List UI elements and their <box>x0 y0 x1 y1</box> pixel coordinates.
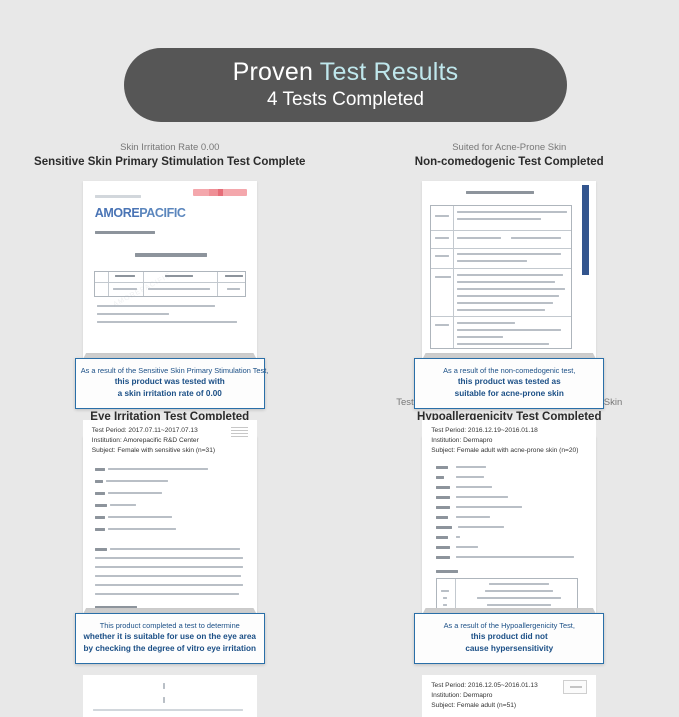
doc-line <box>436 516 448 519</box>
test-card-non-comedogenic: Suited for Acne-Prone Skin Non-comedogen… <box>340 142 679 392</box>
doc-table-col <box>217 272 218 296</box>
doc-line <box>456 516 490 519</box>
doc-line <box>457 218 541 220</box>
callout-line-1: As a result of the non-comedogenic test, <box>420 365 598 376</box>
document-meta-footer <box>83 675 257 717</box>
doc-line <box>457 288 565 290</box>
callout-line-2: this product did not <box>420 631 598 643</box>
doc-line <box>436 546 450 549</box>
doc-line <box>435 276 451 278</box>
doc-line <box>456 506 522 509</box>
doc-line <box>443 597 447 599</box>
doc-line <box>485 590 553 592</box>
document-meta-footer: Test Period: 2017.07.11~2017.07.13 Insti… <box>83 420 257 462</box>
report-document-image <box>422 181 596 362</box>
doc-line <box>135 253 207 257</box>
doc-line <box>457 211 567 213</box>
meta-institution: Institution: Dermapro <box>431 436 588 446</box>
doc-line <box>458 526 504 529</box>
doc-table <box>430 205 572 349</box>
meta-test-period: Test Period: 2017.07.11~2017.07.13 <box>92 426 249 436</box>
doc-line <box>435 215 449 217</box>
callout-line-3: cause hypersensitivity <box>420 643 598 655</box>
page-subtitle: 4 Tests Completed <box>267 90 424 111</box>
card-subtitle: Suited for Acne-Prone Skin <box>452 142 566 154</box>
callout-line-1: As a result of the Sensitive Skin Primar… <box>81 365 259 376</box>
page-header-banner: Proven Test Results 4 Tests Completed <box>124 48 567 122</box>
callout-line-3: suitable for acne-prone skin <box>420 388 598 400</box>
doc-table-col <box>108 272 109 296</box>
doc-line <box>456 546 478 549</box>
doc-line <box>457 260 527 262</box>
result-callout-box: As a result of the non-comedogenic test,… <box>414 358 604 409</box>
doc-line <box>95 468 105 471</box>
doc-line <box>106 480 168 483</box>
doc-line <box>457 237 501 239</box>
doc-line <box>95 480 103 483</box>
doc-line <box>108 492 162 495</box>
doc-table-row <box>431 230 571 231</box>
doc-line <box>108 516 172 519</box>
doc-line <box>477 597 561 599</box>
doc-line <box>163 683 165 689</box>
amorepacific-logo: AMOREPACIFIC <box>95 206 186 220</box>
callout-line-3: by checking the degree of vitro eye irri… <box>81 643 259 655</box>
doc-line <box>456 476 484 479</box>
doc-line <box>436 496 450 499</box>
meta-subject: Subject: Female adult with acne-prone sk… <box>431 446 588 456</box>
doc-line <box>456 466 486 469</box>
result-callout-box: As a result of the Sensitive Skin Primar… <box>75 358 265 409</box>
card-title: Sensitive Skin Primary Stimulation Test … <box>34 155 305 170</box>
doc-line <box>443 604 447 606</box>
test-results-grid: Skin Irritation Rate 0.00 Sensitive Skin… <box>0 142 679 647</box>
doc-table-row <box>431 268 571 269</box>
doc-line <box>457 295 559 297</box>
doc-line <box>95 528 105 531</box>
doc-line <box>436 476 444 479</box>
doc-line <box>457 253 561 255</box>
meta-institution: Institution: Amorepacific R&D Center <box>92 436 249 446</box>
doc-line <box>436 536 448 539</box>
doc-line <box>441 590 449 592</box>
doc-line <box>457 309 545 311</box>
doc-line <box>457 343 549 345</box>
document-meta-footer: Test Period: 2016.12.19~2016.01.18 Insti… <box>422 420 596 462</box>
doc-line <box>110 504 136 507</box>
meta-subject: Subject: Female adult (n=51) <box>431 701 588 711</box>
result-callout-box: This product completed a test to determi… <box>75 613 265 664</box>
doc-line <box>95 548 107 551</box>
doc-line <box>456 556 574 559</box>
doc-line <box>95 492 105 495</box>
blue-spine-bar-icon <box>582 185 589 275</box>
callout-line-1: As a result of the Hypoallergenicity Tes… <box>420 620 598 631</box>
seal-stamp-icon <box>563 680 587 694</box>
doc-line <box>95 504 107 507</box>
doc-line <box>108 468 208 471</box>
doc-table-row <box>431 316 571 317</box>
callout-line-1: This product completed a test to determi… <box>81 620 259 631</box>
document-watermark <box>117 506 234 612</box>
pink-header-bar-icon <box>193 189 247 196</box>
doc-line <box>436 556 450 559</box>
doc-line <box>435 324 449 326</box>
result-callout-box: As a result of the Hypoallergenicity Tes… <box>414 613 604 664</box>
doc-line <box>436 486 450 489</box>
doc-line <box>436 526 452 529</box>
document-photo-wrap: As a result of the non-comedogenic test,… <box>422 181 596 462</box>
doc-line <box>95 516 105 519</box>
callout-line-2: this product was tested with <box>81 376 259 388</box>
doc-line <box>436 466 448 469</box>
doc-line <box>436 506 450 509</box>
report-document-image <box>422 436 596 617</box>
document-photo-wrap: AMOREPACIFIC AMOR <box>83 181 257 462</box>
doc-table-col <box>453 206 454 348</box>
doc-table-row <box>431 248 571 249</box>
doc-line <box>457 274 563 276</box>
doc-line <box>227 288 240 291</box>
report-document-image <box>83 436 257 617</box>
card-title: Non-comedogenic Test Completed <box>415 155 604 170</box>
doc-line <box>457 336 503 338</box>
doc-line <box>511 237 561 239</box>
doc-line <box>93 709 243 711</box>
doc-line <box>487 604 551 606</box>
doc-line <box>457 329 561 331</box>
seal-stamp-icon <box>231 427 248 438</box>
certificate-document-image: AMOREPACIFIC AMOR <box>83 181 257 362</box>
doc-line <box>435 255 449 257</box>
doc-line <box>95 195 141 198</box>
card-subtitle: Skin Irritation Rate 0.00 <box>120 142 219 154</box>
doc-line <box>456 536 460 539</box>
test-card-sensitive-skin: Skin Irritation Rate 0.00 Sensitive Skin… <box>0 142 340 392</box>
doc-line <box>489 583 549 585</box>
callout-line-3: a skin irritation rate of 0.00 <box>81 388 259 400</box>
doc-line <box>456 496 508 499</box>
doc-line <box>436 570 458 573</box>
callout-line-2: whether it is suitable for use on the ey… <box>81 631 259 643</box>
callout-line-2: this product was tested as <box>420 376 598 388</box>
meta-subject: Subject: Female with sensitive skin (n=3… <box>92 446 249 456</box>
document-photo-wrap: This product completed a test to determi… <box>83 436 257 717</box>
document-meta-footer: Test Period: 2016.12.05~2016.01.13 Insti… <box>422 675 596 717</box>
doc-line <box>457 322 515 324</box>
doc-line <box>457 302 553 304</box>
doc-line <box>435 237 449 239</box>
doc-line <box>466 191 534 195</box>
page-title-part1: Proven <box>233 58 320 86</box>
doc-line <box>456 486 492 489</box>
doc-line <box>457 281 555 283</box>
doc-line <box>163 697 165 703</box>
page-title: Proven Test Results <box>233 59 459 87</box>
page-title-part2: Test Results <box>320 58 459 86</box>
doc-line <box>115 275 135 278</box>
doc-line <box>225 275 243 278</box>
meta-test-period: Test Period: 2016.12.19~2016.01.18 <box>431 426 588 436</box>
doc-line <box>95 231 155 234</box>
document-photo-wrap: As a result of the Hypoallergenicity Tes… <box>422 436 596 717</box>
